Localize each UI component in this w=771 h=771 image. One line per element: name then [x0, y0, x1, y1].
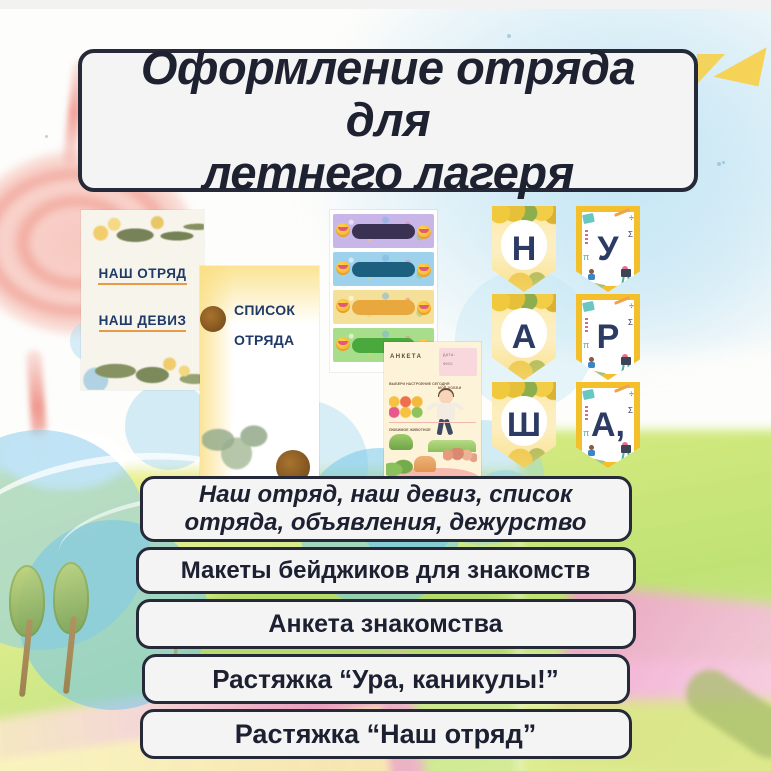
- pi-icon: π: [583, 428, 589, 438]
- pennant-flag-a: А: [492, 294, 556, 380]
- speck: [722, 161, 725, 164]
- badge-row: [333, 290, 434, 324]
- pi-icon: π: [583, 340, 589, 350]
- family-illustration: [443, 448, 477, 468]
- pennant-column-nash[interactable]: Н А Ш: [492, 206, 556, 470]
- emoji-face-icon: [417, 263, 431, 277]
- spring-icon: [585, 318, 588, 333]
- emoji-face-icon: [336, 223, 350, 237]
- pennant-flag-sh: Ш: [492, 382, 556, 468]
- paper-plane-icon: [590, 458, 606, 466]
- preview-card-nash-otryad[interactable]: НАШ ОТРЯД НАШ ДЕВИЗ: [81, 210, 204, 390]
- sigma-icon: Σ: [628, 406, 633, 415]
- pennant-column-ura[interactable]: ÷ Σ π У ÷ Σ π: [576, 206, 640, 470]
- sigma-icon: Σ: [628, 318, 633, 327]
- card-heading-nash-otryad: НАШ ОТРЯД: [81, 266, 204, 281]
- anketa-hobby-label: МОЁ ХОББИ: [438, 386, 462, 390]
- emoji-face-icon: [417, 301, 431, 315]
- emoji-face-icon: [336, 337, 350, 351]
- mood-emoji-grid: [389, 396, 425, 418]
- boy-illustration: [430, 390, 462, 438]
- contents-item-1[interactable]: Макеты бейджиков для знакомств: [136, 547, 636, 594]
- kid-icon: [587, 357, 596, 370]
- spring-icon: [585, 230, 588, 245]
- easel-icon: [620, 357, 632, 371]
- paper-plane-icon: [590, 282, 606, 290]
- emoji-face-icon: [417, 225, 431, 239]
- pi-icon: π: [583, 252, 589, 262]
- anketa-title: АНКЕТА: [390, 354, 422, 360]
- poster-title-text: Оформление отряда для летнего лагеря: [100, 42, 676, 200]
- card-heading-spisok: СПИСОК: [234, 302, 319, 318]
- emoji-face-icon: [336, 261, 350, 275]
- kid-icon: [587, 445, 596, 458]
- sigma-icon: Σ: [628, 230, 633, 239]
- pencil-icon: [614, 208, 630, 217]
- emoji-face-icon: [336, 299, 350, 313]
- poster-canvas: Оформление отряда для летнего лагеря НАШ…: [0, 0, 771, 771]
- pennant-flag-n: Н: [492, 206, 556, 292]
- contents-item-3[interactable]: Растяжка “Ура, каникулы!”: [142, 654, 630, 704]
- floral-decor-top: [81, 210, 204, 252]
- pennant-flag-r: ÷ Σ π Р: [576, 294, 640, 380]
- divide-sign-icon: ÷: [629, 213, 634, 223]
- contents-item-4[interactable]: Растяжка “Наш отряд”: [140, 709, 632, 759]
- anketa-animal-label: ЛЮБИМОЕ ЖИВОТНОЕ: [389, 428, 431, 433]
- book-icon: [582, 389, 595, 400]
- contents-list: Наш отряд, наш девиз, список отряда, объ…: [0, 476, 771, 764]
- poster-title-box: Оформление отряда для летнего лагеря: [78, 49, 698, 192]
- contents-item-2[interactable]: Анкета знакомства: [136, 599, 636, 649]
- card-heading-otryada: ОТРЯДА: [234, 332, 319, 348]
- spring-icon: [585, 406, 588, 421]
- cat-illustration: [414, 456, 436, 472]
- product-preview-collage: НАШ ОТРЯД НАШ ДЕВИЗ СПИСОК ОТРЯДА: [0, 196, 771, 486]
- easel-icon: [620, 445, 632, 459]
- pennant-flag-u: ÷ Σ π У: [576, 206, 640, 292]
- badge-row: [333, 252, 434, 286]
- book-icon: [582, 213, 595, 224]
- preview-card-spisok-otryada[interactable]: СПИСОК ОТРЯДА: [200, 266, 319, 481]
- divide-sign-icon: ÷: [629, 389, 634, 399]
- bush-decor: [389, 434, 413, 450]
- preview-card-anketa[interactable]: АНКЕТА ДАТА: ФИО: ВЫБЕРИ НАСТРОЕНИЕ СЕГО…: [384, 342, 481, 482]
- top-edge-strip: [0, 0, 771, 9]
- pencil-icon: [614, 384, 630, 393]
- divide-sign-icon: ÷: [629, 301, 634, 311]
- card-heading-nash-deviz: НАШ ДЕВИЗ: [81, 313, 204, 328]
- speck: [45, 135, 48, 138]
- yellow-triangle-shape-2: [697, 54, 725, 84]
- book-icon: [582, 301, 595, 312]
- pencil-icon: [614, 296, 630, 305]
- contents-item-0[interactable]: Наш отряд, наш девиз, список отряда, объ…: [140, 476, 632, 542]
- badge-row: [333, 214, 434, 248]
- paper-plane-icon: [590, 370, 606, 378]
- anketa-name-label: ФИО:: [443, 362, 477, 366]
- speck: [507, 34, 511, 38]
- anketa-date-box: ДАТА: ФИО:: [439, 348, 477, 376]
- leaf-decor: [202, 415, 274, 477]
- speck: [717, 162, 721, 166]
- plant-decor: [386, 454, 416, 476]
- kid-icon: [587, 269, 596, 282]
- floral-decor-bottom: [81, 340, 204, 390]
- anketa-date-label: ДАТА:: [443, 353, 477, 357]
- easel-icon: [620, 269, 632, 283]
- pennant-flag-a-comma: ÷ Σ π А,: [576, 382, 640, 468]
